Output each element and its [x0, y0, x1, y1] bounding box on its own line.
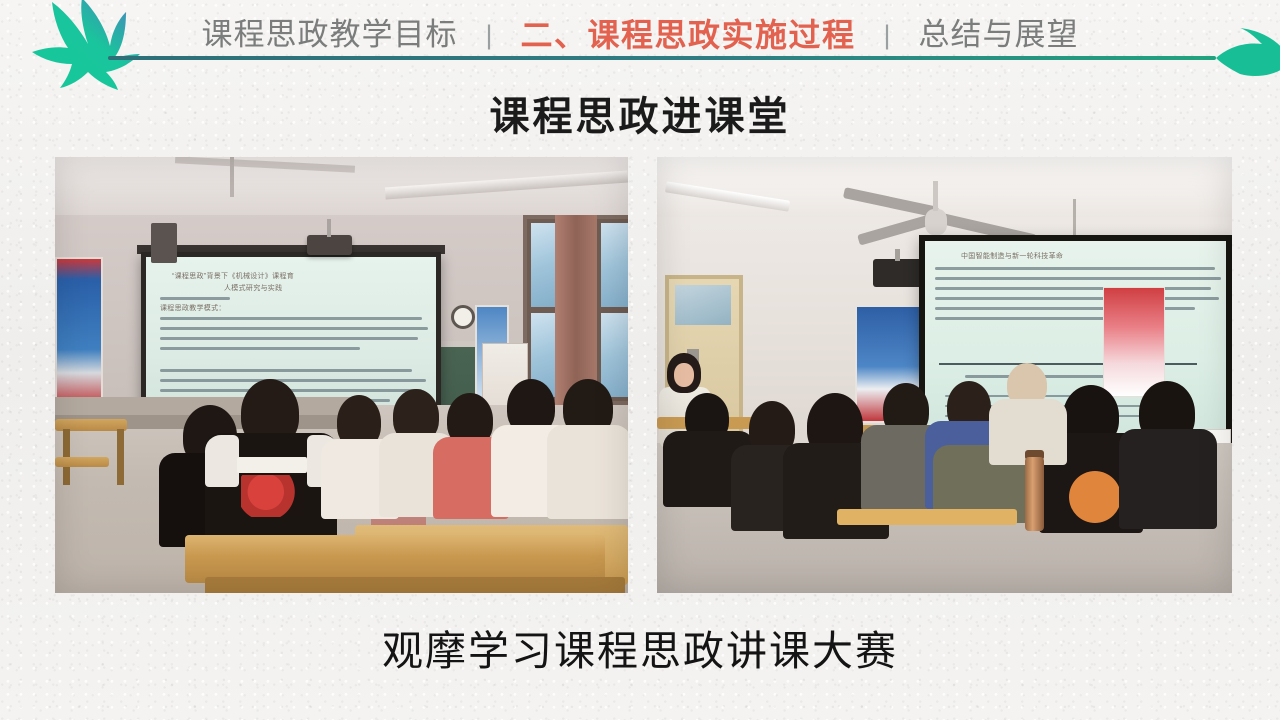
teacher-face	[674, 363, 694, 387]
fan-hub	[925, 209, 947, 235]
sports-shirt-graphic	[241, 475, 303, 517]
student-body	[1119, 429, 1217, 529]
ceiling-rod	[230, 157, 234, 197]
student-desk	[837, 509, 1017, 525]
light-rod	[1073, 199, 1076, 239]
nav-item-implementation-active[interactable]: 二、课程思政实施过程	[518, 15, 857, 55]
nav-separator: |	[858, 16, 917, 54]
fan-rod	[933, 181, 938, 211]
wall-poster	[1103, 287, 1165, 397]
door-window	[675, 285, 731, 325]
desk-leg	[117, 429, 124, 485]
thermos-bottle	[1025, 457, 1044, 531]
projector	[307, 235, 352, 255]
photo-caption: 观摩学习课程思政讲课大赛	[0, 617, 1280, 677]
projector-mount	[895, 249, 900, 261]
projector	[873, 259, 925, 287]
nav-item-summary[interactable]: 总结与展望	[917, 15, 1081, 55]
page-title: 课程思政进课堂	[0, 84, 1280, 142]
nav-item-goals[interactable]: 课程思政教学目标	[199, 15, 459, 55]
nav-separator: |	[459, 16, 518, 54]
wall-poster	[55, 257, 103, 407]
desk-edge	[205, 577, 625, 593]
student-shirt-shoulder	[205, 435, 239, 487]
student-desk	[185, 535, 605, 583]
section-nav: 课程思政教学目标 | 二、课程思政实施过程 | 总结与展望	[0, 12, 1280, 58]
wall-clock	[451, 305, 475, 329]
jacket-logo	[1069, 471, 1121, 523]
speaker	[151, 223, 177, 263]
ceiling	[657, 157, 1232, 217]
projector-mount	[327, 219, 331, 237]
slide-header: 课程思政教学目标 | 二、课程思政实施过程 | 总结与展望	[0, 0, 1280, 72]
classroom-photo-right: 中国智能制造与新一轮科技革命	[657, 157, 1232, 593]
student-body	[547, 425, 628, 519]
classroom-photo-left: “课程思政”背景下《机械设计》课程育 人模式研究与实践 课程思政教学模式：	[55, 157, 628, 593]
sports-shirt-print	[237, 457, 307, 473]
student-chair	[55, 457, 109, 467]
